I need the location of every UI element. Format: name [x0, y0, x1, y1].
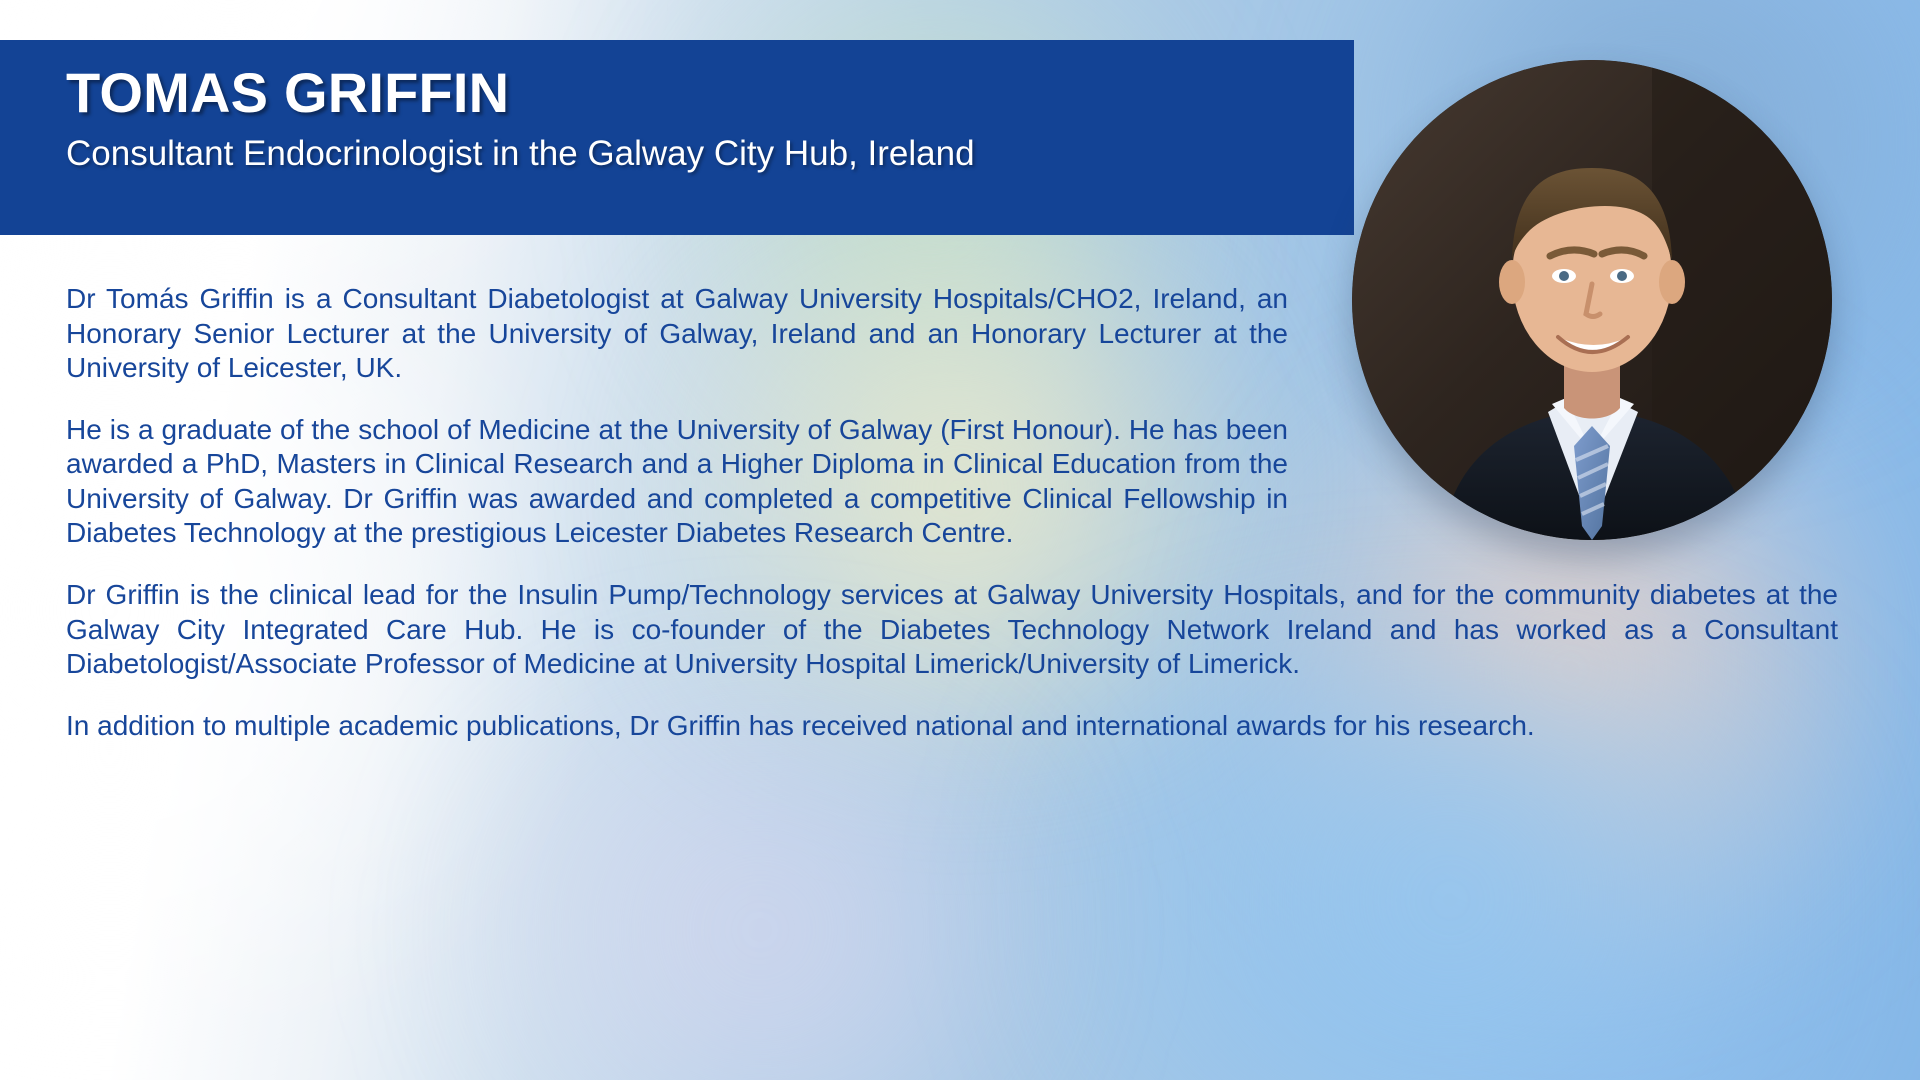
speaker-banner: TOMAS GRIFFIN Consultant Endocrinologist… [0, 40, 1354, 235]
speaker-role: Consultant Endocrinologist in the Galway… [66, 133, 1354, 175]
bio-paragraph-3: Dr Griffin is the clinical lead for the … [66, 578, 1838, 682]
banner-inner: TOMAS GRIFFIN Consultant Endocrinologist… [0, 40, 1354, 175]
bio-paragraph-4: In addition to multiple academic publica… [66, 709, 1838, 744]
speaker-portrait-photo [1352, 60, 1832, 540]
bio-paragraph-1: Dr Tomás Griffin is a Consultant Diabeto… [66, 282, 1288, 386]
portrait-container [1352, 60, 1832, 540]
speaker-name: TOMAS GRIFFIN [66, 62, 1354, 125]
speaker-bio-slide: TOMAS GRIFFIN Consultant Endocrinologist… [0, 0, 1920, 1080]
bio-paragraph-2: He is a graduate of the school of Medici… [66, 413, 1288, 551]
